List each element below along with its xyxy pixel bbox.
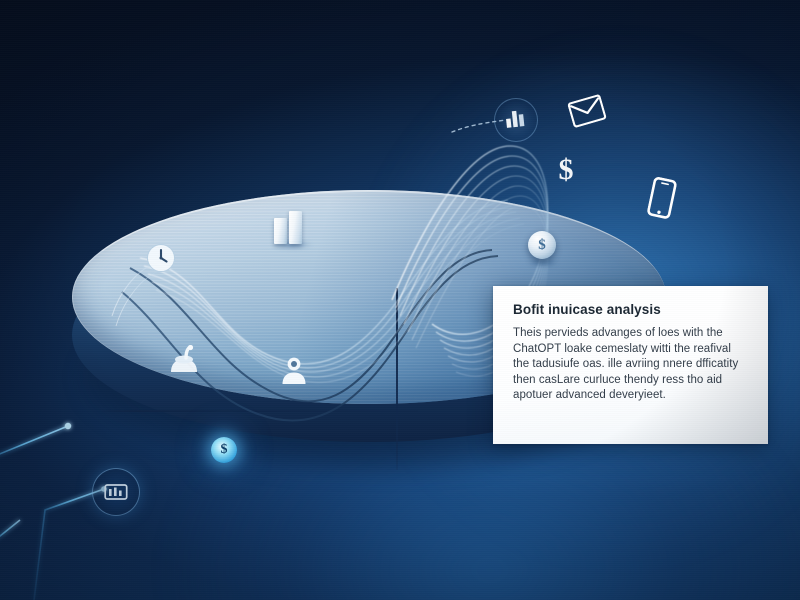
bar-block-icon [272,208,306,244]
dollar-sphere-glyph: $ [538,238,546,253]
svg-text:$: $ [559,153,574,186]
illustration-scene: $ [0,0,800,600]
document-icon [167,345,201,375]
dollar-coin-glyph: $ [221,443,228,457]
bar-block-bar-1 [274,218,287,244]
bar-chart-icon [502,105,528,131]
clock-icon [146,243,176,273]
dollar-sphere-shadow [528,258,558,267]
dollar-sphere-icon: $ [528,231,556,259]
info-card-title: Bofit inuicase analysis [513,302,750,317]
dollar-sign-icon: $ [555,152,577,186]
info-card-body: Theis pervieds advanges of loes with the… [513,326,750,404]
info-card[interactable]: Bofit inuicase analysis Theis pervieds a… [493,286,768,444]
chart-y-axis [396,288,398,470]
dollar-coin-icon: $ [211,437,237,463]
network-node-bar-chart-icon [92,468,140,516]
bar-block-bar-2 [289,211,302,244]
chart-x-axis [100,410,418,412]
user-avatar-icon [279,355,309,385]
